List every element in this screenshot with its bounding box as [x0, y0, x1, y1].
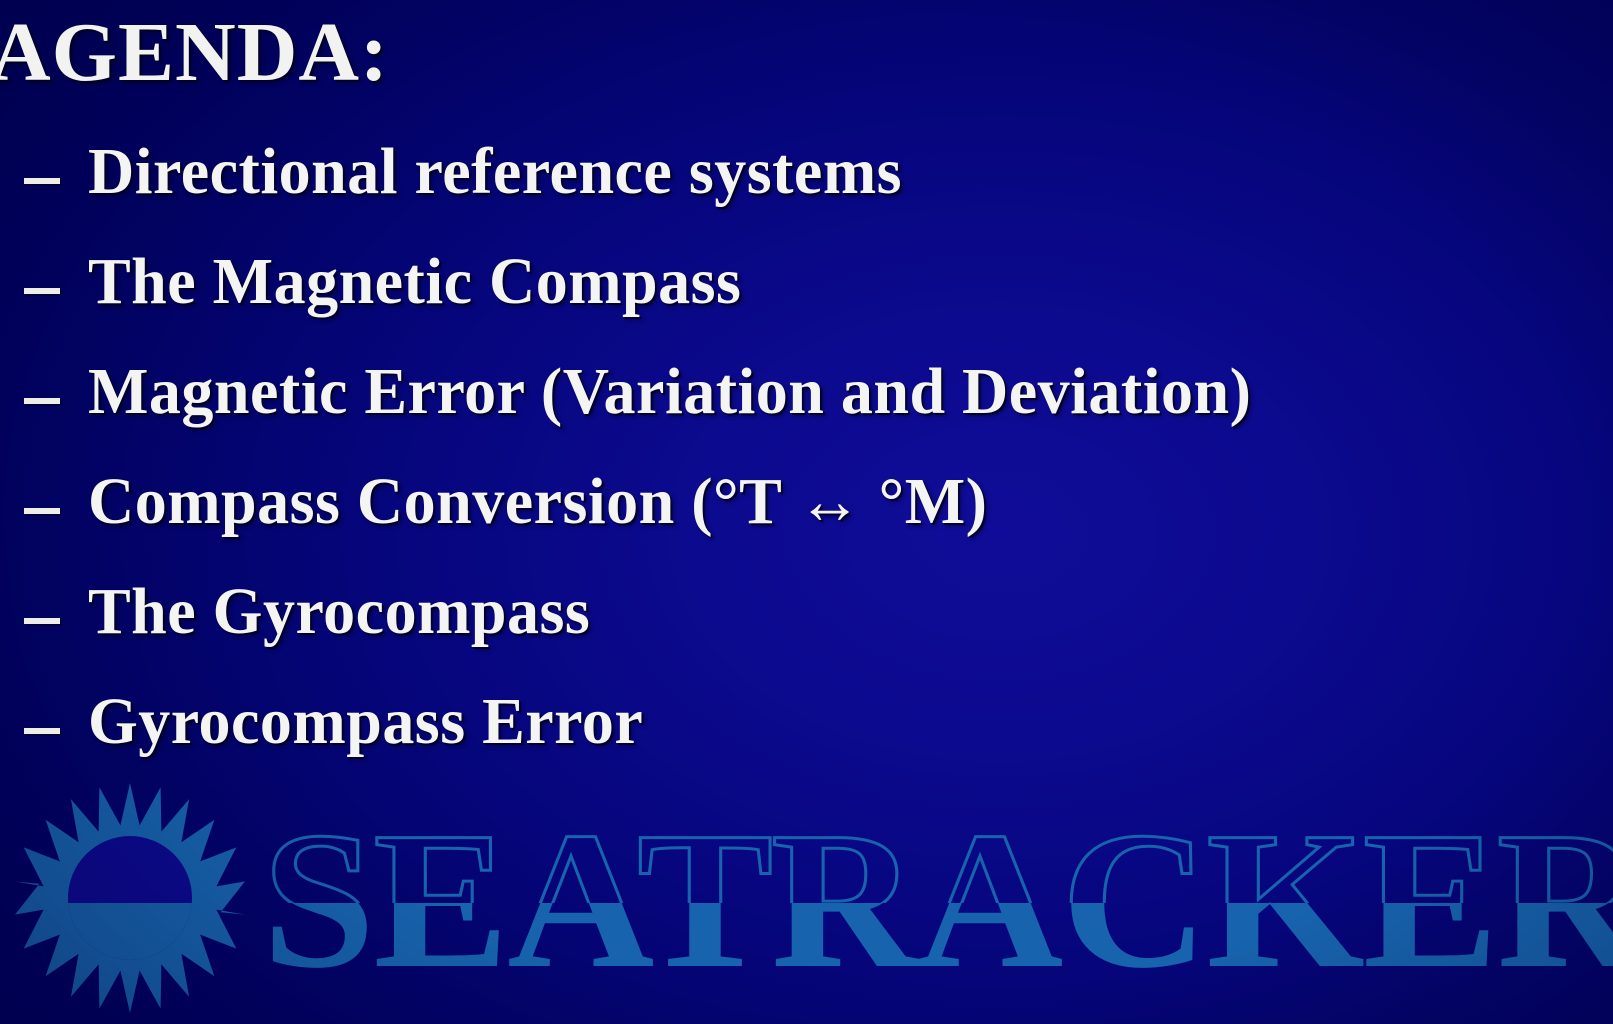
- list-item: Magnetic Error (Variation and Deviation): [0, 348, 1613, 458]
- list-item-label: The Magnetic Compass: [88, 244, 741, 320]
- slide-content: AGENDA: Directional reference systems Th…: [0, 0, 1613, 1024]
- list-item-label: Magnetic Error (Variation and Deviation): [88, 354, 1251, 430]
- agenda-list: Directional reference systems The Magnet…: [0, 128, 1613, 788]
- list-item: Gyrocompass Error: [0, 678, 1613, 788]
- list-item-label: Directional reference systems: [88, 134, 902, 210]
- bullet-dash-icon: [24, 508, 60, 514]
- list-item: The Magnetic Compass: [0, 238, 1613, 348]
- bullet-dash-icon: [24, 728, 60, 734]
- list-item: Directional reference systems: [0, 128, 1613, 238]
- bullet-dash-icon: [24, 618, 60, 624]
- bullet-dash-icon: [24, 178, 60, 184]
- presentation-slide: SEATRACKER.RU SEATRACKER.RU AGENDA: Dire…: [0, 0, 1613, 1024]
- list-item-label: Compass Conversion (°T ↔ °M): [88, 464, 987, 540]
- bullet-dash-icon: [24, 288, 60, 294]
- list-item: Compass Conversion (°T ↔ °M): [0, 458, 1613, 568]
- bullet-dash-icon: [24, 398, 60, 404]
- list-item-label: The Gyrocompass: [88, 574, 590, 650]
- list-item-label: Gyrocompass Error: [88, 684, 643, 760]
- list-item: The Gyrocompass: [0, 568, 1613, 678]
- page-title: AGENDA:: [0, 4, 389, 101]
